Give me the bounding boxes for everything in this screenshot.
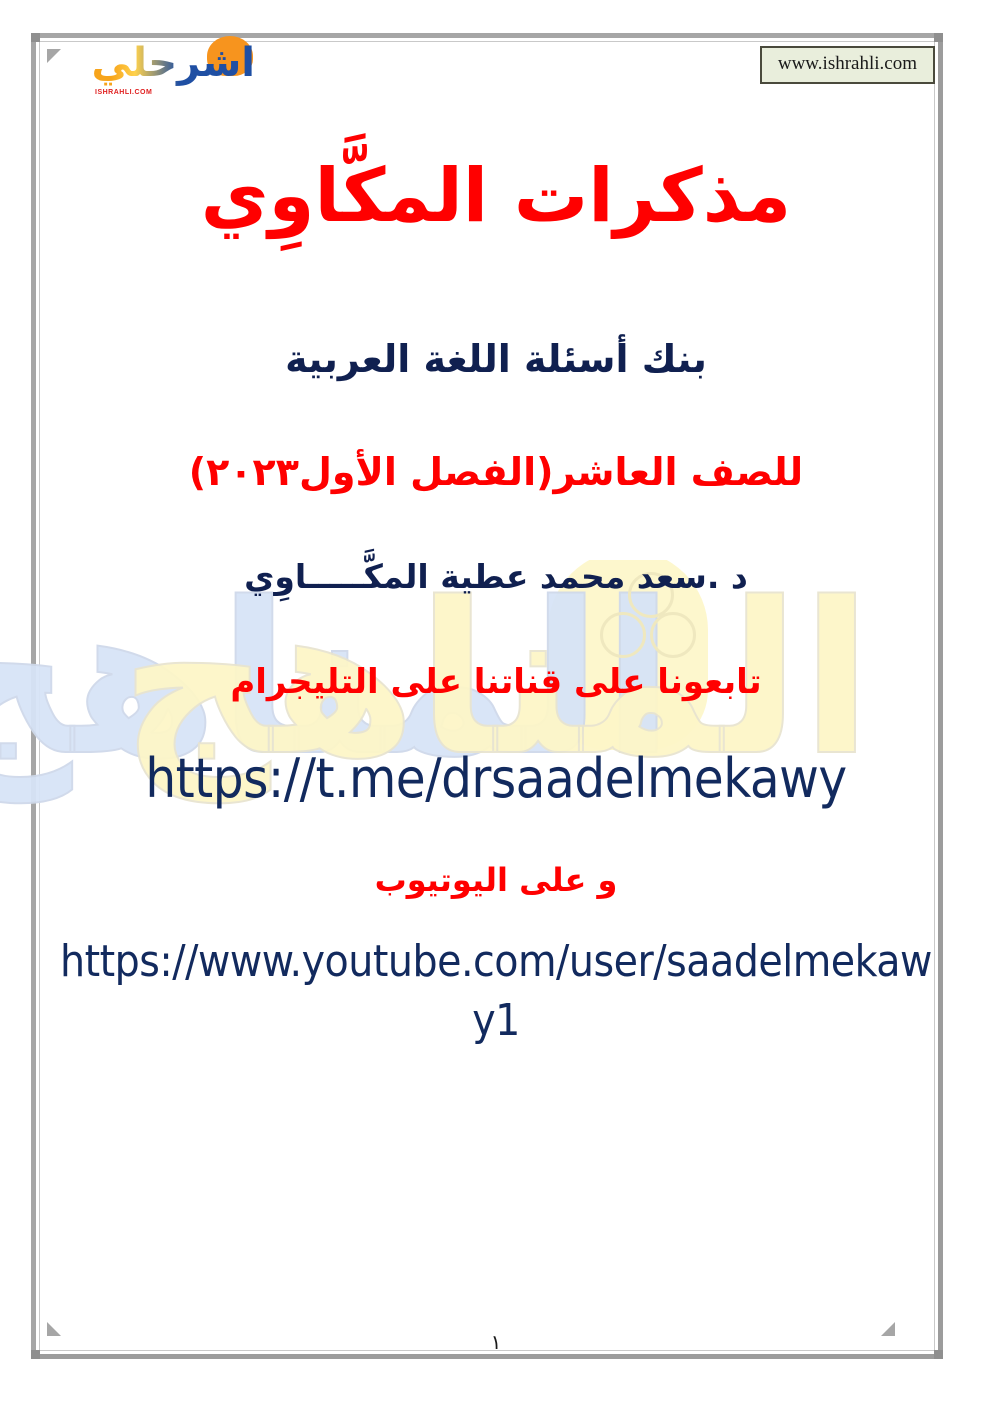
page-title: مذكرات المكَّاوِي (0, 150, 992, 243)
telegram-url-link[interactable]: https://t.me/drsaadelmekawy (0, 748, 992, 810)
logo-wordmark: اشرحلي (55, 34, 255, 96)
document-page: المناهج المناهج اشرحلي ISHRAHLI.COM www.… (0, 0, 992, 1403)
page-number: ١ (0, 1330, 992, 1354)
page-content: اشرحلي ISHRAHLI.COM www.ishrahli.com مذك… (0, 0, 992, 1403)
brand-logo[interactable]: اشرحلي ISHRAHLI.COM (55, 34, 255, 96)
author-line: د .سعد محمد عطية المكَّـــــاوِي (0, 556, 992, 599)
subject-line: بنك أسئلة اللغة العربية (0, 335, 992, 384)
grade-term-line: للصف العاشر(الفصل الأول٢٠٢٣) (0, 448, 992, 497)
youtube-prompt: و على اليوتيوب (0, 860, 992, 902)
page-header: اشرحلي ISHRAHLI.COM www.ishrahli.com (55, 30, 935, 100)
telegram-prompt: تابعونا على قناتنا على التليجرام (0, 660, 992, 704)
logo-subtext: ISHRAHLI.COM (95, 89, 152, 96)
youtube-url-link[interactable]: https://www.youtube.com/user/saadelmekaw… (0, 932, 992, 1051)
site-url-badge[interactable]: www.ishrahli.com (760, 46, 935, 84)
